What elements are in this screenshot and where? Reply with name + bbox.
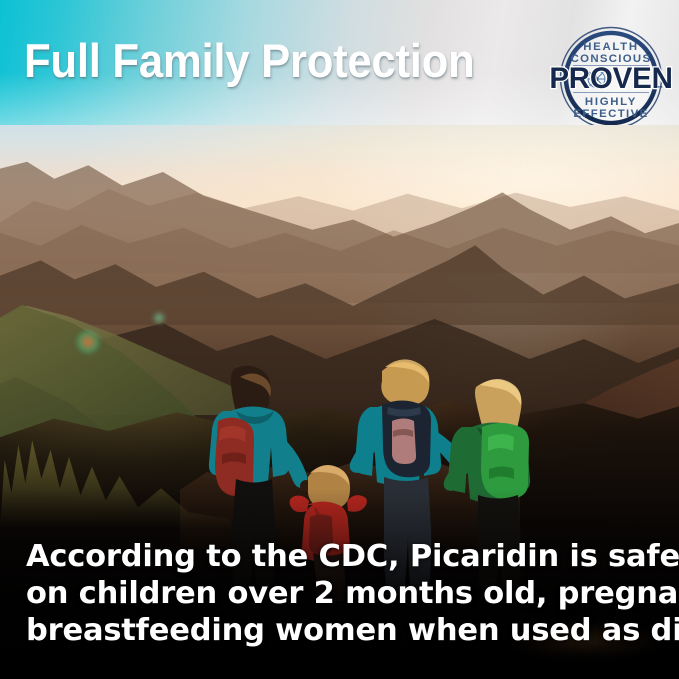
badge-brand: PROVEN [549, 62, 672, 95]
caption-line-2: on children over 2 months old, pregnant … [26, 575, 653, 612]
caption-line-3: breastfeeding women when used as directe… [26, 612, 653, 649]
lens-flare-2 [152, 311, 166, 325]
badge-bottom-line2: EFFECTIVE [573, 108, 648, 120]
toddler-left-arm [290, 496, 309, 513]
advertisement-creative: Full Family Protection [0, 0, 679, 679]
caption-line-1: According to the CDC, Picaridin is safe … [26, 538, 653, 575]
badge-bottom-line1: HIGHLY [585, 96, 637, 108]
caption-block: According to the CDC, Picaridin is safe … [0, 538, 679, 649]
proven-seal-badge: HEALTH CONSCIOUS PROVEN ™ HIGHLY EFFECTI… [553, 26, 669, 130]
badge-trademark: ™ [657, 85, 663, 92]
header-band: Full Family Protection [0, 0, 679, 132]
hero-photo: According to the CDC, Picaridin is safe … [0, 125, 679, 679]
badge-top-line1: HEALTH [583, 41, 639, 53]
boy-backpack-pocket [392, 419, 416, 465]
page-title: Full Family Protection [24, 33, 474, 88]
